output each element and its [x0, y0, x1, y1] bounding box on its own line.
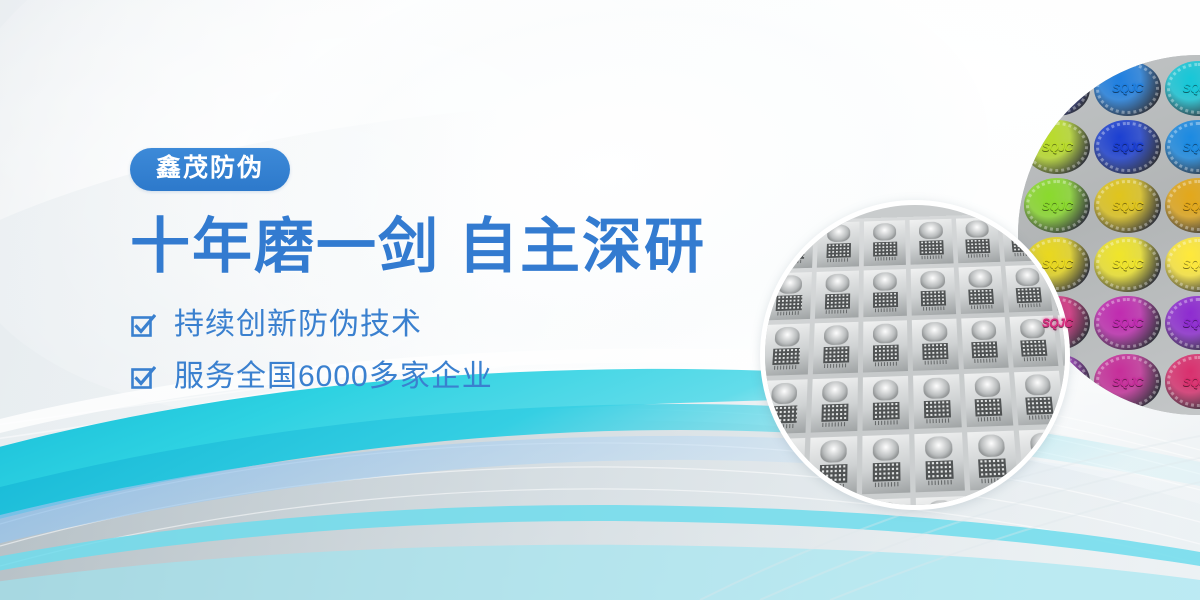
- silver-label-cell: [956, 217, 1000, 262]
- silver-label-emblem: [1029, 432, 1057, 455]
- holographic-label-dot: SQJC: [1094, 296, 1160, 351]
- silver-label-qr: [925, 461, 953, 481]
- silver-label-code: [875, 308, 897, 312]
- silver-label-code: [823, 422, 846, 427]
- silver-label-cell: [862, 434, 910, 493]
- silver-label-code: [824, 364, 847, 369]
- silver-label-code: [874, 420, 897, 425]
- silver-label-qr: [1011, 237, 1036, 252]
- silver-label-emblem: [873, 272, 897, 291]
- holographic-label-text: SQJC: [1042, 316, 1073, 330]
- silver-label-emblem: [873, 379, 899, 401]
- holographic-label-text: SQJC: [1183, 375, 1200, 389]
- holographic-label-text: SQJC: [1112, 257, 1143, 271]
- holographic-label-dot: SQJC: [1165, 237, 1200, 292]
- silver-label-qr: [922, 343, 948, 360]
- headline-part-1: 十年磨一剑: [130, 213, 440, 280]
- silver-label-code: [875, 362, 897, 367]
- silver-label-emblem: [925, 436, 952, 459]
- silver-label-cell: [815, 270, 859, 319]
- silver-label-code: [924, 360, 947, 365]
- silver-label-cell: [811, 377, 858, 432]
- silver-label-code: [828, 258, 849, 262]
- silver-label-qr: [819, 464, 847, 484]
- silver-label-code: [928, 480, 952, 485]
- list-item-label: 服务全国6000多家企业: [174, 362, 493, 392]
- holographic-label-text: SQJC: [1183, 316, 1200, 330]
- holographic-label-dot: SQJC: [1165, 178, 1200, 233]
- silver-label-emblem: [968, 269, 993, 288]
- headline-part-2: 自主深研: [458, 213, 706, 280]
- holographic-label-dot: SQJC: [1094, 120, 1160, 175]
- silver-label-cell: [863, 320, 908, 372]
- silver-label-emblem: [1015, 267, 1041, 286]
- silver-label-emblem: [873, 323, 898, 343]
- silver-label-qr: [765, 466, 794, 486]
- silver-label-qr: [968, 289, 994, 305]
- silver-label-code: [821, 484, 845, 489]
- silver-label-qr: [1020, 340, 1047, 357]
- silver-label-qr: [873, 462, 901, 482]
- silver-label-emblem: [1010, 219, 1035, 237]
- silver-label-emblem: [822, 380, 848, 402]
- silver-label-code: [874, 482, 898, 487]
- silver-label-qr: [873, 292, 898, 308]
- silver-label-qr: [965, 239, 990, 254]
- holographic-label-dot: SQJC: [1024, 120, 1090, 175]
- holographic-label-text: SQJC: [1042, 81, 1073, 95]
- promo-banner: SQJCSQJCSQJCSQJCSQJCSQJCSQJCSQJCSQJCSQJC…: [0, 0, 1200, 600]
- holographic-label-text: SQJC: [1042, 140, 1073, 154]
- checkbox-checked-icon: [130, 365, 156, 391]
- silver-label-code: [926, 418, 949, 423]
- silver-label-emblem: [974, 375, 1001, 397]
- silver-label-cell: [1001, 216, 1047, 261]
- holographic-label-text: SQJC: [1183, 140, 1200, 154]
- silver-label-qr: [924, 400, 951, 418]
- silver-label-qr: [978, 459, 1007, 479]
- silver-label-code: [826, 309, 848, 313]
- silver-label-code: [771, 424, 795, 429]
- silver-label-cell: [910, 219, 953, 264]
- silver-label-emblem: [827, 224, 851, 242]
- holographic-label-text: SQJC: [1183, 257, 1200, 271]
- silver-label-qr: [919, 240, 944, 255]
- holographic-label-text: SQJC: [1042, 375, 1073, 389]
- silver-label-code: [1029, 415, 1052, 420]
- silver-label-qr: [1016, 287, 1042, 303]
- silver-label-cell: [760, 438, 805, 498]
- silver-label-grid: [760, 211, 1070, 510]
- silver-label-qr: [821, 403, 848, 421]
- silver-label-qr: [873, 402, 900, 420]
- silver-label-emblem: [971, 320, 997, 340]
- list-item-label: 持续创新防伪技术: [174, 310, 422, 340]
- silver-label-emblem: [922, 322, 947, 342]
- silver-label-code: [981, 478, 1005, 483]
- banner-content: 鑫茂防伪 十年磨一剑自主深研 持续创新防伪技术: [130, 148, 790, 414]
- silver-label-qr: [1031, 457, 1060, 477]
- silver-label-qr: [873, 345, 899, 362]
- silver-label-cell: [967, 431, 1018, 490]
- holographic-label-dot: SQJC: [1094, 61, 1160, 116]
- silver-label-code: [767, 486, 791, 491]
- silver-label-cell: [915, 432, 965, 491]
- holographic-label-text: SQJC: [1112, 199, 1143, 213]
- silver-label-qr: [975, 398, 1003, 416]
- silver-label-code: [1024, 357, 1047, 362]
- silver-label-qr: [825, 293, 850, 309]
- holographic-label-text: SQJC: [1112, 375, 1143, 389]
- checkbox-checked-icon: [130, 313, 156, 339]
- silver-label-cell: [913, 374, 961, 429]
- silver-square-labels-photo: [760, 200, 1070, 510]
- silver-label-code: [978, 417, 1001, 422]
- silver-label-emblem: [977, 434, 1005, 457]
- silver-label-code: [971, 305, 993, 309]
- silver-label-qr: [1025, 396, 1053, 414]
- silver-label-code: [974, 359, 997, 364]
- silver-label-code: [921, 256, 942, 260]
- silver-label-emblem: [919, 221, 943, 239]
- silver-label-cell: [864, 269, 908, 317]
- silver-label-emblem: [924, 377, 950, 399]
- silver-label-code: [1014, 253, 1035, 257]
- silver-label-emblem: [965, 220, 989, 238]
- silver-label-qr: [826, 243, 851, 258]
- list-item: 持续创新防伪技术: [130, 310, 790, 340]
- silver-label-emblem: [820, 440, 847, 463]
- holographic-label-text: SQJC: [1042, 199, 1073, 213]
- silver-label-cell: [817, 222, 860, 268]
- holographic-label-dot: SQJC: [1094, 178, 1160, 233]
- silver-label-emblem: [873, 223, 896, 241]
- holographic-label-text: SQJC: [1112, 140, 1143, 154]
- holographic-label-text: SQJC: [1112, 316, 1143, 330]
- silver-label-cell: [864, 220, 906, 266]
- silver-label-cell: [961, 317, 1009, 369]
- silver-label-cell: [1005, 264, 1052, 312]
- holographic-label-dot: SQJC: [1094, 237, 1160, 292]
- silver-label-emblem: [825, 273, 849, 292]
- silver-label-code: [923, 306, 945, 310]
- silver-label-emblem: [873, 438, 900, 461]
- brand-badge: 鑫茂防伪: [130, 148, 290, 191]
- holographic-label-text: SQJC: [1183, 81, 1200, 95]
- silver-label-cell: [863, 375, 910, 430]
- silver-label-qr: [921, 290, 947, 306]
- silver-label-cell: [808, 436, 857, 496]
- silver-label-qr: [873, 242, 897, 257]
- silver-label-qr: [971, 342, 998, 359]
- silver-label-cell: [911, 267, 956, 315]
- silver-label-cell: [912, 319, 958, 371]
- holographic-label-dot: SQJC: [1165, 354, 1200, 409]
- silver-label-code: [875, 257, 896, 261]
- holographic-label-text: SQJC: [1112, 81, 1143, 95]
- silver-label-code: [1019, 303, 1041, 307]
- silver-label-emblem: [920, 270, 945, 289]
- holographic-label-dot: SQJC: [1165, 61, 1200, 116]
- silver-label-qr: [823, 346, 849, 363]
- silver-label-cell: [1019, 429, 1070, 488]
- holographic-label-dot: SQJC: [1165, 120, 1200, 175]
- silver-label-cell: [964, 372, 1013, 427]
- silver-label-code: [1034, 476, 1058, 481]
- silver-label-cell: [958, 266, 1004, 314]
- silver-label-emblem: [824, 325, 849, 345]
- list-item: 服务全国6000多家企业: [130, 362, 790, 392]
- holographic-label-dot: SQJC: [1094, 354, 1160, 409]
- silver-label-emblem: [767, 441, 795, 465]
- silver-label-code: [968, 254, 989, 258]
- silver-label-cell: [813, 322, 859, 374]
- holographic-label-dot: SQJC: [1165, 296, 1200, 351]
- holographic-label-text: SQJC: [1183, 199, 1200, 213]
- page-title: 十年磨一剑自主深研: [130, 215, 790, 280]
- holographic-label-text: SQJC: [1042, 257, 1073, 271]
- feature-list: 持续创新防伪技术 服务全国6000多家企业: [130, 310, 790, 392]
- holographic-label-dot: SQJC: [1024, 61, 1090, 116]
